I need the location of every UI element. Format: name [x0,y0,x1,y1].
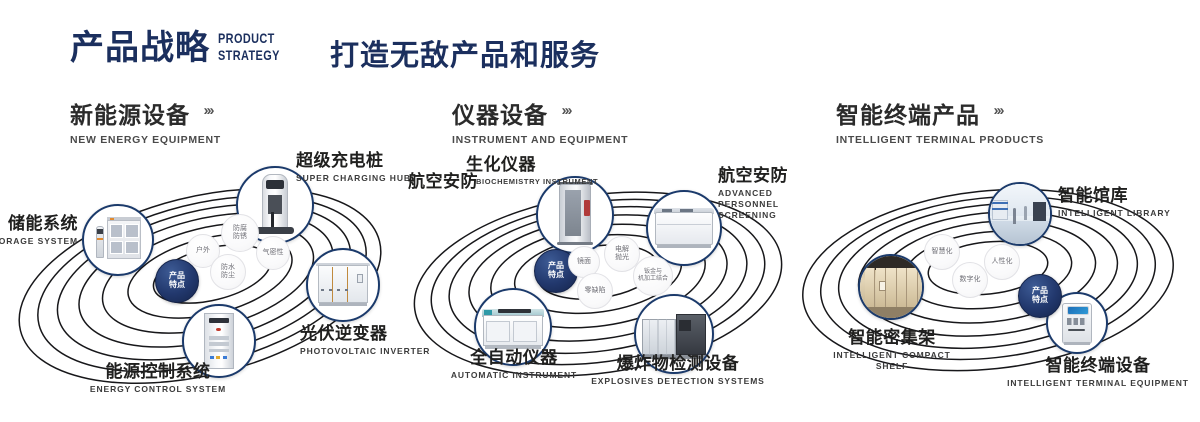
node-label-en: AUTOMATIC INSTRUMENT [428,370,600,381]
feature-bubble-anticorrosion: 防腐 防锈 [221,214,259,252]
node-label-en: ENERGY STORAGE SYSTEM [0,236,78,247]
node-label-cn: 能源控制系统 [28,362,288,382]
node-label-en: EXPLOSIVES DETECTION SYSTEMS [588,376,768,387]
label-energy-storage: 储能系统 ENERGY STORAGE SYSTEM [0,214,78,247]
page-title-en-line1: PRODUCT [218,30,280,47]
label-energy-control: 能源控制系统 ENERGY CONTROL SYSTEM [28,362,288,395]
bubble-line1: 防水 [221,264,235,272]
bubble-line2: 特点 [548,271,564,280]
chevron-right-icon: ››› [203,102,212,119]
bubble-line1: 气密性 [263,249,284,257]
bubble-line2: 防尘 [221,272,235,280]
diagram-new-energy: 产品 特点 户外 防腐 防锈 防水 防尘 气密性 储能系统 ENERGY STO… [0,152,400,402]
node-label-cn: 爆炸物检测设备 [588,354,768,374]
diagram-intelligent-terminal: 产品 特点 智慧化 数字化 人性化 智能馆库 INTELLIGENT LIBRA… [790,152,1200,402]
page-title-en-line2: STRATEGY [218,47,280,64]
compact-shelf-photo-icon [860,256,922,318]
section-title-en: NEW ENERGY EQUIPMENT [70,134,221,146]
label-intelligent-library: 智能馆库 INTELLIGENT LIBRARY [1058,186,1171,219]
node-label-en: INTELLIGENT TERMINAL EQUIPMENT [996,378,1200,389]
node-intelligent-library[interactable] [988,182,1052,246]
feature-bubble-zerodefect: 零缺陷 [577,273,613,309]
section-title-en: INTELLIGENT TERMINAL PRODUCTS [836,134,1044,146]
node-energy-storage[interactable] [82,204,154,276]
chevron-right-icon: ››› [561,102,570,119]
bubble-line1: 人性化 [992,258,1013,266]
bubble-line2: 特点 [1032,296,1048,305]
feature-bubble-intelligent: 智慧化 [924,234,960,270]
label-automatic-instrument: 全自动仪器 AUTOMATIC INSTRUMENT [428,348,600,381]
page-header: 产品战略 PRODUCT STRATEGY 打造无敌产品和服务 [0,0,1200,90]
feature-bubble-humanized: 人性化 [984,244,1020,280]
diagram-instrument: 产品 特点 镜面 电解 抛光 钣金与 机加工结合 零缺陷 航空安防 生化仪器 B… [400,152,800,402]
bubble-line2: 机加工结合 [638,276,668,283]
bubble-line2: 特点 [169,281,185,290]
label-compact-shelf: 智能密集架 INTELLIGENT COMPACT SHELF [784,328,1000,372]
section-header-instrument: 仪器设备 ››› INSTRUMENT AND EQUIPMENT [452,96,628,146]
node-pv-inverter[interactable] [306,248,380,322]
bubble-line1: 数字化 [960,276,981,284]
node-label-cn: 智能密集架 [784,328,1000,348]
feature-bubble-airtight: 气密性 [256,236,290,270]
node-label-en: INTELLIGENT COMPACT SHELF [817,350,967,372]
library-photo-icon [990,184,1050,244]
node-label-en: INTELLIGENT LIBRARY [1058,208,1171,219]
feature-bubble-digital: 数字化 [952,262,988,298]
feature-bubble-sheetmetal: 钣金与 机加工结合 [633,256,673,296]
center-bubble-product-features: 产品 特点 [1018,274,1062,318]
section-title-cn: 智能终端产品 [836,96,980,130]
bubble-line1: 电解 [615,246,629,254]
bubble-line1: 镜面 [577,258,591,266]
label-terminal-equipment: 智能终端设备 INTELLIGENT TERMINAL EQUIPMENT [996,356,1200,389]
section-header-intelligent-terminal: 智能终端产品 ››› INTELLIGENT TERMINAL PRODUCTS [836,96,1044,146]
center-bubble-product-features: 产品 特点 [155,259,199,303]
section-title-cn: 新能源设备 [70,96,190,130]
biochemistry-scanner-icon [538,178,612,252]
bubble-line1: 防腐 [233,225,247,233]
section-header-new-energy: 新能源设备 ››› NEW ENERGY EQUIPMENT [70,96,221,146]
section-title-cn: 仪器设备 [452,96,548,130]
energy-storage-cabinet-icon [84,206,152,274]
page-subtitle: 打造无敌产品和服务 [330,32,600,74]
node-label-cn: 生化仪器 [376,155,536,175]
node-label-cn: 全自动仪器 [428,348,600,368]
node-label-cn: 智能终端设备 [996,356,1200,376]
bubble-line1: 智慧化 [932,248,953,256]
bubble-line1: 钣金与 [638,269,668,276]
bubble-line2: 抛光 [615,254,629,262]
chevron-right-icon: ››› [993,102,1002,119]
node-biochemistry-instrument[interactable] [536,176,614,254]
label-biochemistry-instrument: 生化仪器 BIOCHEMISTRY INSTRUMENT [376,155,536,187]
bubble-line1: 户外 [196,247,210,255]
label-explosives-detection: 爆炸物检测设备 EXPLOSIVES DETECTION SYSTEMS [588,354,768,387]
bubble-line2: 防锈 [233,233,247,241]
node-label-cn: 智能馆库 [1058,186,1171,206]
node-label-cn: 储能系统 [0,214,78,234]
page-title-en: PRODUCT STRATEGY [218,30,280,64]
node-label-en: ENERGY CONTROL SYSTEM [28,384,288,395]
node-compact-shelf[interactable] [858,254,924,320]
section-title-en: INSTRUMENT AND EQUIPMENT [452,134,628,146]
pv-inverter-icon [308,250,378,320]
node-advanced-screening[interactable] [646,190,722,266]
page-title-cn: 产品战略 [70,26,210,70]
feature-bubble-waterproof: 防水 防尘 [210,254,246,290]
node-label-en: BIOCHEMISTRY INSTRUMENT [476,177,536,187]
bubble-line1: 零缺陷 [585,287,606,295]
screening-machine-icon [648,192,720,264]
